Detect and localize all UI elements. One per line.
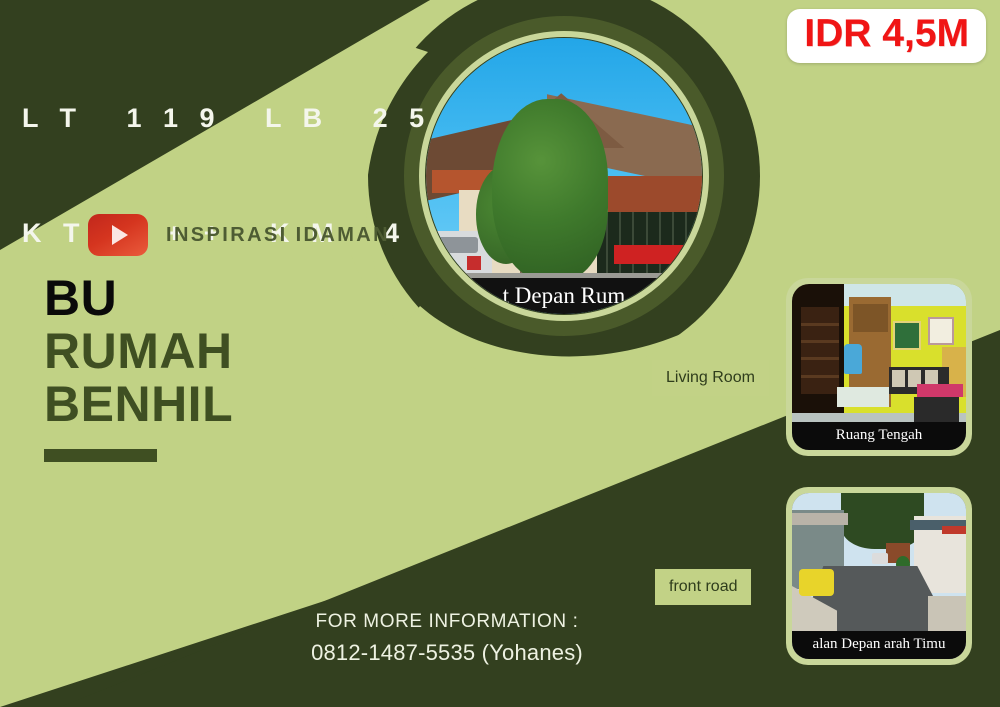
headline-line-2: RUMAH — [44, 325, 233, 378]
hero-car-light — [467, 256, 481, 270]
lr-wall-art-1 — [893, 321, 921, 351]
rd-distant-car — [872, 553, 888, 565]
contact-heading: FOR MORE INFORMATION : — [282, 608, 612, 637]
youtube-play-icon[interactable] — [88, 214, 148, 256]
lr-wall-art-2 — [928, 317, 954, 345]
channel-name: INSPIRASI IDAMAN — [166, 224, 390, 247]
hero-caption-text: t Depan Rum — [503, 283, 626, 309]
lr-water-dispenser — [844, 344, 861, 374]
channel-branding[interactable]: INSPIRASI IDAMAN — [88, 214, 390, 256]
headline-line-1: BU — [44, 272, 233, 325]
contact-block: FOR MORE INFORMATION : 0812-1487-5535 (Y… — [282, 608, 612, 668]
rd-roof-left — [792, 513, 848, 525]
hero-red-accent — [614, 245, 691, 264]
label-living-room: Living Room — [652, 360, 769, 396]
headline-line-3: BENHIL — [44, 378, 233, 431]
rd-red-sign — [942, 526, 966, 534]
headline-underline-rule — [44, 449, 157, 462]
headline-block: BU RUMAH BENHIL — [44, 272, 233, 462]
thumbnail-living-room-image: Ruang Tengah — [792, 284, 966, 450]
label-front-road: front road — [655, 569, 751, 605]
hero-house-photo: t Depan Rum — [426, 38, 702, 314]
price-badge: IDR 4,5M — [787, 9, 986, 63]
lr-side-table — [917, 384, 962, 397]
thumbnail-front-road: alan Depan arah Timu — [786, 487, 972, 665]
thumbnail-front-road-caption: alan Depan arah Timu — [813, 636, 946, 653]
hero-tree — [492, 99, 608, 281]
property-ad-poster: L T 1 1 9 L B 2 5 0 K T 5 + + K M 4 IDR … — [0, 0, 1000, 707]
hero-caption-bar: t Depan Rum — [426, 278, 702, 314]
thumbnail-living-room-caption: Ruang Tengah — [836, 427, 923, 444]
contact-phone[interactable]: 0812-1487-5535 (Yohanes) — [282, 637, 612, 669]
thumbnail-front-road-image: alan Depan arah Timu — [792, 493, 966, 659]
lr-shelf — [801, 307, 839, 393]
thumbnail-living-room-caption-bar: Ruang Tengah — [792, 422, 966, 450]
rd-yellow-car — [799, 569, 834, 596]
hero-car-window — [429, 237, 479, 254]
thumbnail-living-room: Ruang Tengah — [786, 278, 972, 456]
play-triangle-icon — [112, 225, 128, 245]
spec-line-1: L T 1 1 9 L B 2 5 0 — [22, 99, 468, 137]
lr-covered-table — [837, 387, 889, 407]
price-text: IDR 4,5M — [804, 14, 969, 55]
thumbnail-front-road-caption-bar: alan Depan arah Timu — [792, 631, 966, 659]
